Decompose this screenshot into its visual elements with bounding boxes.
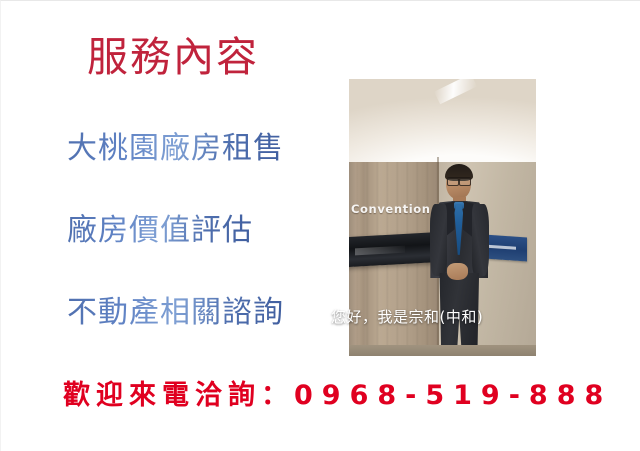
contact-phone-number: 0968-519-888 (294, 380, 612, 411)
photo-caption: 您好，我是宗和(中和) (331, 308, 483, 328)
person-hands (447, 263, 468, 280)
contact-line: 歡迎來電洽詢：0968-519-888 (63, 373, 612, 412)
service-item-2: 廠房價值評估 (67, 213, 253, 249)
service-item-3: 不動產相關諮詢 (67, 295, 284, 331)
contact-label: 歡迎來電洽詢： (63, 380, 294, 411)
person-arm-right (472, 204, 489, 276)
person-arm-left (430, 204, 447, 276)
service-item-1: 大桃園廠房租售 (67, 131, 284, 167)
page-title: 服務內容 (87, 34, 259, 81)
eyeglasses-icon (447, 177, 471, 184)
slide-canvas: 服務內容 大桃園廠房租售 廠房價值評估 不動產相關諮詢 Convention C… (0, 0, 640, 451)
photo-floor (349, 345, 536, 356)
